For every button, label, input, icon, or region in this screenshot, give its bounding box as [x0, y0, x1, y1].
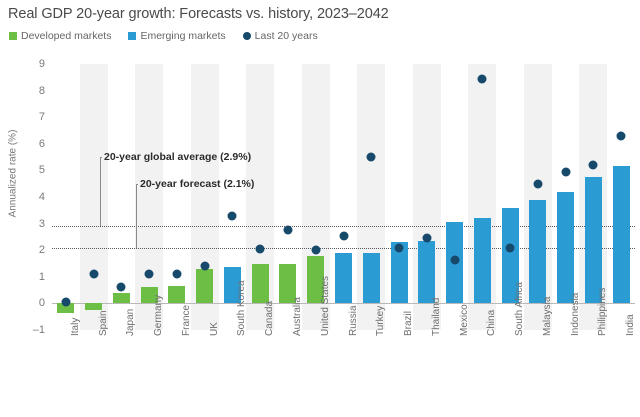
annotation-leader-vertical: [136, 184, 137, 248]
developed-markets-swatch-icon: [9, 32, 17, 40]
x-axis-label: Mexico: [459, 304, 470, 336]
history-dot[interactable]: [533, 179, 542, 188]
page-title: Real GDP 20-year growth: Forecasts vs. h…: [8, 6, 389, 22]
history-dot[interactable]: [589, 161, 598, 170]
y-axis-label: Annualized rate (%): [8, 109, 19, 239]
legend-label-history: Last 20 years: [255, 30, 318, 42]
bar[interactable]: [585, 177, 602, 303]
history-dot[interactable]: [339, 231, 348, 240]
reference-line: [52, 226, 635, 227]
y-tick-label: 4: [39, 191, 45, 203]
bar[interactable]: [335, 253, 352, 304]
annotation-label: 20-year forecast (2.1%): [140, 178, 254, 190]
x-axis-label: Canada: [264, 301, 275, 336]
history-dot[interactable]: [200, 262, 209, 271]
y-tick-label: 0: [39, 297, 45, 309]
legend-label-developed: Developed markets: [21, 30, 111, 42]
y-tick-label: 1: [39, 271, 45, 283]
x-axis-label: United States: [320, 276, 331, 336]
background-band: [80, 64, 108, 330]
bar[interactable]: [196, 269, 213, 304]
x-axis-label: China: [486, 310, 497, 336]
x-axis-label: Japan: [125, 309, 136, 336]
history-dot[interactable]: [478, 74, 487, 83]
y-tick-label: 5: [39, 164, 45, 176]
bar[interactable]: [85, 303, 102, 310]
x-axis-label: UK: [209, 322, 220, 336]
chart-legend: Developed markets Emerging markets Last …: [9, 30, 318, 42]
history-dot[interactable]: [145, 270, 154, 279]
y-tick-label: 9: [39, 58, 45, 70]
y-tick-label: 2: [39, 244, 45, 256]
last-20-years-dot-icon: [243, 32, 251, 40]
x-axis-label: South Africa: [514, 282, 525, 336]
annotation-leader-vertical: [100, 157, 101, 226]
history-dot[interactable]: [117, 283, 126, 292]
x-axis-label: Germany: [153, 295, 164, 336]
x-axis-label: Spain: [98, 310, 109, 336]
bar[interactable]: [363, 253, 380, 304]
legend-item-developed: Developed markets: [9, 30, 111, 42]
bar[interactable]: [613, 166, 630, 303]
history-dot[interactable]: [506, 243, 515, 252]
emerging-markets-swatch-icon: [128, 32, 136, 40]
history-dot[interactable]: [283, 226, 292, 235]
history-dot[interactable]: [172, 270, 181, 279]
x-axis-label: India: [625, 314, 636, 336]
x-axis-label: South Korea: [236, 280, 247, 336]
history-dot[interactable]: [422, 234, 431, 243]
x-axis-label: Philippines: [597, 288, 608, 336]
y-tick-label: 6: [39, 138, 45, 150]
plot-area: –10123456789 ItalySpainJapanGermanyFranc…: [52, 64, 635, 330]
history-dot[interactable]: [450, 255, 459, 264]
bar[interactable]: [557, 192, 574, 304]
bar[interactable]: [113, 293, 130, 304]
history-dot[interactable]: [61, 298, 70, 307]
y-tick-label: 8: [39, 85, 45, 97]
x-axis-label: Brazil: [403, 311, 414, 336]
x-axis-label: France: [181, 305, 192, 336]
legend-item-emerging: Emerging markets: [128, 30, 225, 42]
legend-item-history: Last 20 years: [243, 30, 318, 42]
bar[interactable]: [168, 286, 185, 303]
history-dot[interactable]: [89, 270, 98, 279]
x-axis-label: Malaysia: [542, 297, 553, 336]
y-tick-label: –1: [33, 324, 45, 336]
history-dot[interactable]: [311, 246, 320, 255]
history-dot[interactable]: [228, 211, 237, 220]
bar[interactable]: [418, 241, 435, 304]
history-dot[interactable]: [367, 153, 376, 162]
history-dot[interactable]: [617, 131, 626, 140]
legend-label-emerging: Emerging markets: [140, 30, 225, 42]
bar[interactable]: [474, 218, 491, 303]
history-dot[interactable]: [256, 244, 265, 253]
x-axis-label: Turkey: [375, 306, 386, 336]
y-tick-label: 7: [39, 111, 45, 123]
annotation-label: 20-year global average (2.9%): [104, 151, 251, 163]
reference-line: [52, 248, 635, 249]
x-axis-label: Thailand: [431, 298, 442, 336]
y-tick-label: 3: [39, 218, 45, 230]
x-axis-label: Indonesia: [570, 293, 581, 336]
history-dot[interactable]: [395, 243, 404, 252]
bar[interactable]: [252, 264, 269, 304]
x-axis-label: Russia: [348, 305, 359, 336]
history-dot[interactable]: [561, 167, 570, 176]
x-axis-label: Italy: [70, 318, 81, 336]
bar[interactable]: [529, 200, 546, 304]
x-axis-label: Australia: [292, 297, 303, 336]
